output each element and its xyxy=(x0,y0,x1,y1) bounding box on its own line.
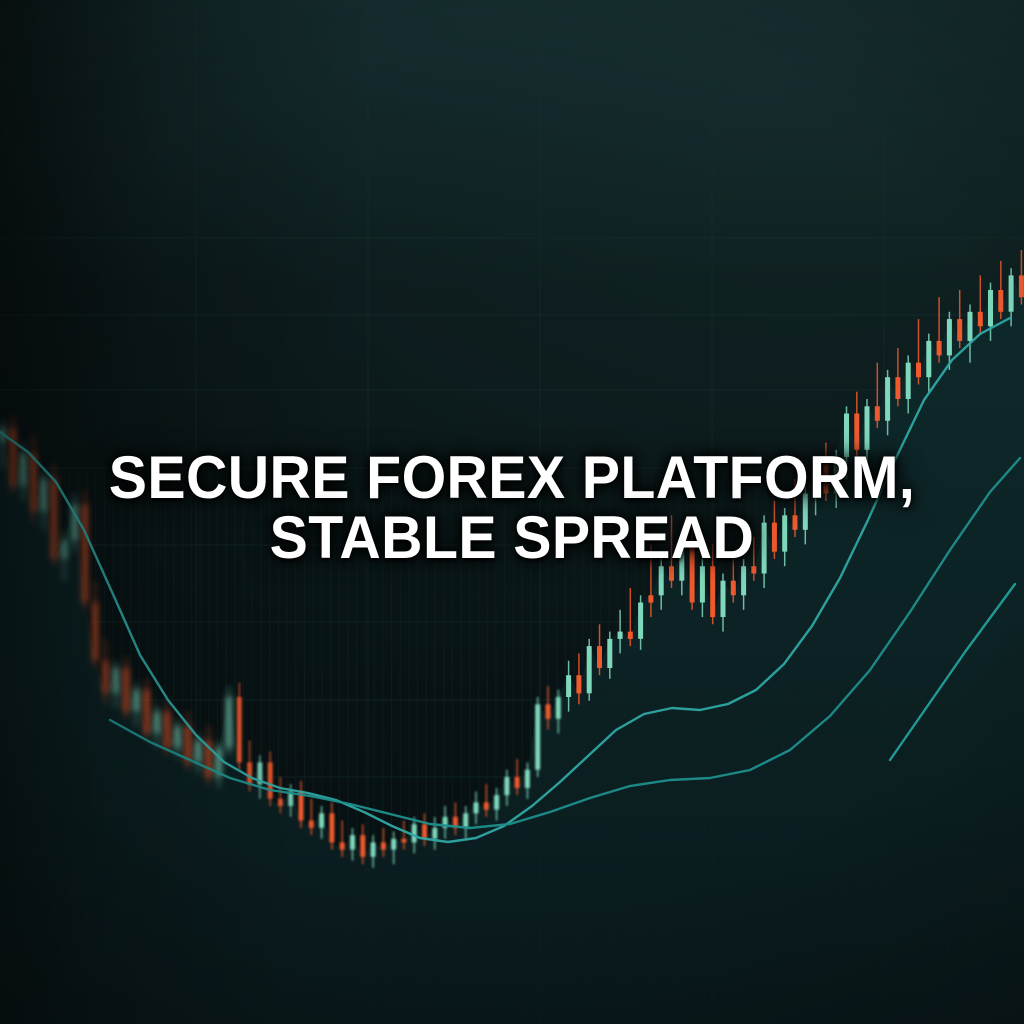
forex-promo-banner: SECURE FOREX PLATFORM, STABLE SPREAD xyxy=(0,0,1024,1024)
moving-average-lines xyxy=(0,0,1024,1024)
